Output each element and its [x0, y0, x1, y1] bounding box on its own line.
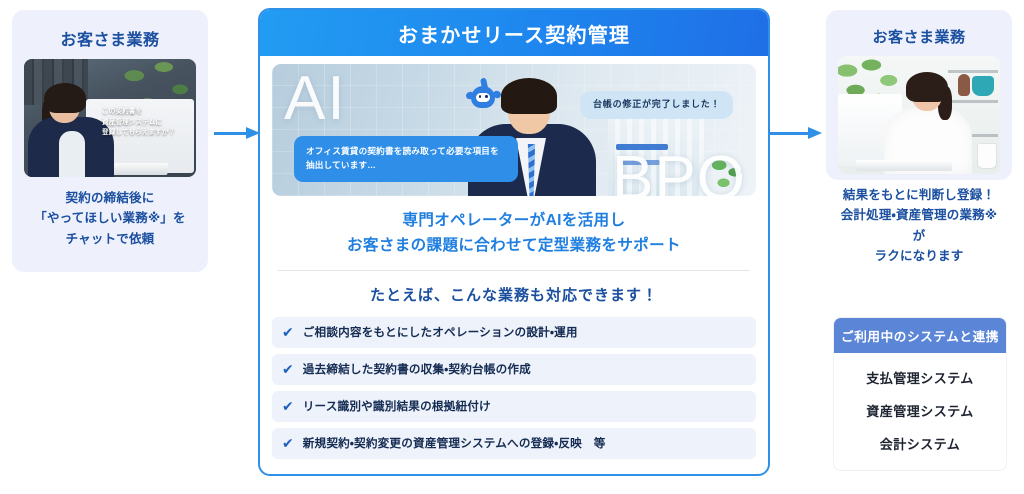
- left-bubble-line-3: 登録してもらえますか？: [102, 128, 196, 139]
- check-icon: ✔: [282, 399, 294, 413]
- left-photo-chat-text: この契約書を 資産管理システムに 登録してもらえますか？: [102, 107, 196, 139]
- linked-systems-list: 支払管理システム 資産管理システム 会計システム: [834, 353, 1006, 470]
- ai-speech-bubble: オフィス賃貸の契約書を読み取って必要な項目を抽出しています…: [294, 136, 518, 182]
- right-photo-cup: [978, 144, 996, 168]
- list-item-label: ご相談内容をもとにしたオペレーションの設計・運用: [303, 324, 578, 340]
- center-lead-line-2: お客さまの課題に合わせて定型業務をサポート: [272, 234, 756, 259]
- hero-bpo-label: BPO: [612, 148, 746, 196]
- check-icon: ✔: [282, 436, 294, 450]
- right-caption-line-2: 会計処理・資産管理の業務※が: [838, 205, 1000, 246]
- center-lead-line-1: 専門オペレーターがAIを活用し: [272, 209, 756, 234]
- check-icon: ✔: [282, 325, 294, 339]
- arrow-right-icon-right: [768, 128, 822, 138]
- center-card-body: AI BPO オフィス賃貸の契約書を読み取って必要な項目を抽出しています… 台帳…: [260, 56, 768, 459]
- left-caption-line-1: 契約の締結後に: [24, 188, 196, 208]
- list-item: ✔ 新規契約・契約変更の資産管理システムへの登録・反映 等: [272, 428, 756, 459]
- center-lead-text: 専門オペレーターがAIを活用し お客さまの課題に合わせて定型業務をサポート: [272, 209, 756, 259]
- list-item: ✔ ご相談内容をもとにしたオペレーションの設計・運用: [272, 317, 756, 348]
- right-photo-person: [882, 70, 974, 174]
- center-card-header: おまかせリース契約管理: [260, 10, 768, 56]
- left-card-photo: この契約書を 資産管理システムに 登録してもらえますか？: [24, 59, 196, 177]
- hero-ai-label: AI: [284, 68, 347, 130]
- diagram-stage: お客さま業務 この契約書を 資産管理システムに 登録してもらえますか？ 契約の締…: [0, 0, 1024, 494]
- list-item: 支払管理システム: [834, 361, 1006, 394]
- list-item: 資産管理システム: [834, 394, 1006, 427]
- left-caption-line-2: 「やってほしい業務※」を: [24, 208, 196, 228]
- blue-ai-mascot-icon: [465, 78, 501, 114]
- right-photo-vase: [972, 76, 994, 96]
- bpo-speech-bubble: 台帳の修正が完了しました！: [580, 91, 733, 119]
- list-item: ✔ リース識別や識別結果の根拠紐付け: [272, 391, 756, 422]
- center-subheading: たとえば、こんな業務も対応できます！: [272, 284, 756, 305]
- linked-systems-box: ご利用中のシステムと連携 支払管理システム 資産管理システム 会計システム: [834, 318, 1006, 470]
- list-item-label: リース識別や識別結果の根拠紐付け: [303, 398, 491, 414]
- right-card-photo: [838, 56, 1000, 174]
- check-icon: ✔: [282, 362, 294, 376]
- hero-image: AI BPO オフィス賃貸の契約書を読み取って必要な項目を抽出しています… 台帳…: [272, 64, 756, 196]
- list-item: ✔ 過去締結した契約書の収集・契約台帳の作成: [272, 354, 756, 385]
- linked-systems-header: ご利用中のシステムと連携: [834, 318, 1006, 353]
- customer-task-card-right: お客さま業務 結果をもとに判断し登録！ 会計処理・資産管理の業務※が ラクになり…: [826, 10, 1012, 180]
- right-card-title: お客さま業務: [838, 26, 1000, 47]
- omakase-lease-contract-management-card: おまかせリース契約管理 AI BPO: [258, 8, 770, 476]
- list-item-label: 新規契約・契約変更の資産管理システムへの登録・反映 等: [303, 435, 606, 451]
- center-divider: [278, 270, 750, 271]
- customer-task-card-left: お客さま業務 この契約書を 資産管理システムに 登録してもらえますか？ 契約の締…: [12, 10, 208, 272]
- right-photo-keyboard: [856, 160, 952, 171]
- left-caption-line-3: チャットで依頼: [24, 229, 196, 249]
- left-card-caption: 契約の締結後に 「やってほしい業務※」を チャットで依頼: [24, 188, 196, 249]
- center-card-title: おまかせリース契約管理: [398, 19, 630, 48]
- left-bubble-line-2: 資産管理システムに: [102, 118, 196, 129]
- left-photo-person: [30, 85, 110, 177]
- supported-tasks-list: ✔ ご相談内容をもとにしたオペレーションの設計・運用 ✔ 過去締結した契約書の収…: [272, 317, 756, 459]
- list-item: 会計システム: [834, 427, 1006, 460]
- left-card-title: お客さま業務: [24, 26, 196, 50]
- arrow-right-icon-left: [214, 128, 260, 138]
- right-caption-line-1: 結果をもとに判断し登録！: [838, 185, 1000, 205]
- left-bubble-line-1: この契約書を: [102, 107, 196, 118]
- list-item-label: 過去締結した契約書の収集・契約台帳の作成: [303, 361, 531, 377]
- right-caption-line-3: ラクになります: [838, 246, 1000, 266]
- right-card-caption: 結果をもとに判断し登録！ 会計処理・資産管理の業務※が ラクになります: [838, 185, 1000, 266]
